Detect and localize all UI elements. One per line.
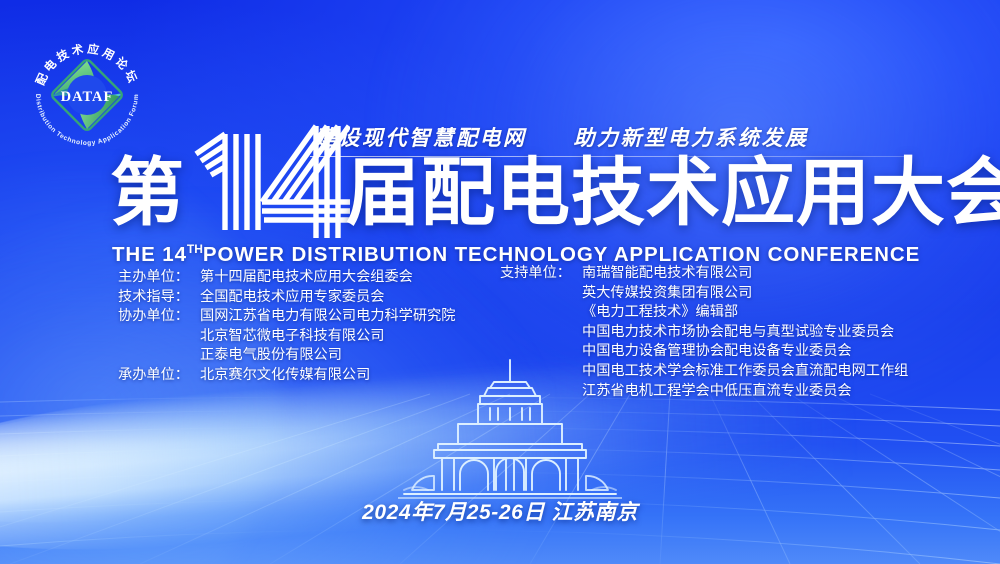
landmark-building-icon xyxy=(398,358,622,504)
main-title-row: 第 xyxy=(110,156,900,238)
title-suffix: 届配电技术应用大会 xyxy=(346,152,1000,234)
credit-value: 全国配电技术应用专家委员会 xyxy=(200,288,488,308)
credit-label: 主办单位： xyxy=(118,268,200,288)
credit-row: 支持单位： 中国电力技术市场协会配电与真型试验专业委员会 xyxy=(500,323,920,343)
credit-value: 第十四届配电技术应用大会组委会 xyxy=(200,268,488,288)
credit-value: 中国电力设备管理协会配电设备专业委员会 xyxy=(582,342,920,362)
event-date-location: 2024年7月25-26日 江苏南京 xyxy=(0,496,1000,526)
credit-row: 主办单位： 第十四届配电技术应用大会组委会 xyxy=(118,268,488,288)
credit-row: 技术指导： 全国配电技术应用专家委员会 xyxy=(118,288,488,308)
credit-label: 承办单位： xyxy=(118,366,200,386)
title-prefix: 第 xyxy=(110,152,184,234)
logo-acronym: DATAF xyxy=(61,89,114,105)
credit-row: 主办单位： 北京智芯微电子科技有限公司 xyxy=(118,327,488,347)
credit-row: 支持单位： 《电力工程技术》编辑部 xyxy=(500,303,920,323)
credit-row: 支持单位： 南瑞智能配电技术有限公司 xyxy=(500,264,920,284)
credit-value: 中国电工技术学会标准工作委员会直流配电网工作组 xyxy=(582,362,920,382)
credit-label: 协办单位： xyxy=(118,307,200,327)
credit-label: 支持单位： xyxy=(500,264,582,284)
credit-value: 江苏省电机工程学会中低压直流专业委员会 xyxy=(582,382,920,402)
credit-row: 支持单位： 英大传媒投资集团有限公司 xyxy=(500,284,920,304)
credit-value: 北京智芯微电子科技有限公司 xyxy=(200,327,488,347)
conference-banner: DATAF 配电技术应用论坛 Distribution Technology A… xyxy=(0,0,1000,564)
credit-label: 技术指导： xyxy=(118,288,200,308)
tagline: 建设现代智慧配电网 助力新型电力系统发展 xyxy=(315,122,809,152)
headline-block: 建设现代智慧配电网 助力新型电力系统发展 第 xyxy=(110,118,900,268)
credit-row: 协办单位： 国网江苏省电力有限公司电力科学研究院 xyxy=(118,307,488,327)
english-title-prefix: THE 14 xyxy=(112,243,187,266)
credit-value: 英大传媒投资集团有限公司 xyxy=(582,284,920,304)
credit-value: 《电力工程技术》编辑部 xyxy=(582,303,920,323)
credit-value: 国网江苏省电力有限公司电力科学研究院 xyxy=(200,307,488,327)
english-title-rest: POWER DISTRIBUTION TECHNOLOGY APPLICATIO… xyxy=(203,243,920,266)
english-title-ordinal: TH xyxy=(187,242,203,256)
credit-value: 南瑞智能配电技术有限公司 xyxy=(582,264,920,284)
credit-value: 中国电力技术市场协会配电与真型试验专业委员会 xyxy=(582,323,920,343)
title-number-14 xyxy=(188,110,350,238)
